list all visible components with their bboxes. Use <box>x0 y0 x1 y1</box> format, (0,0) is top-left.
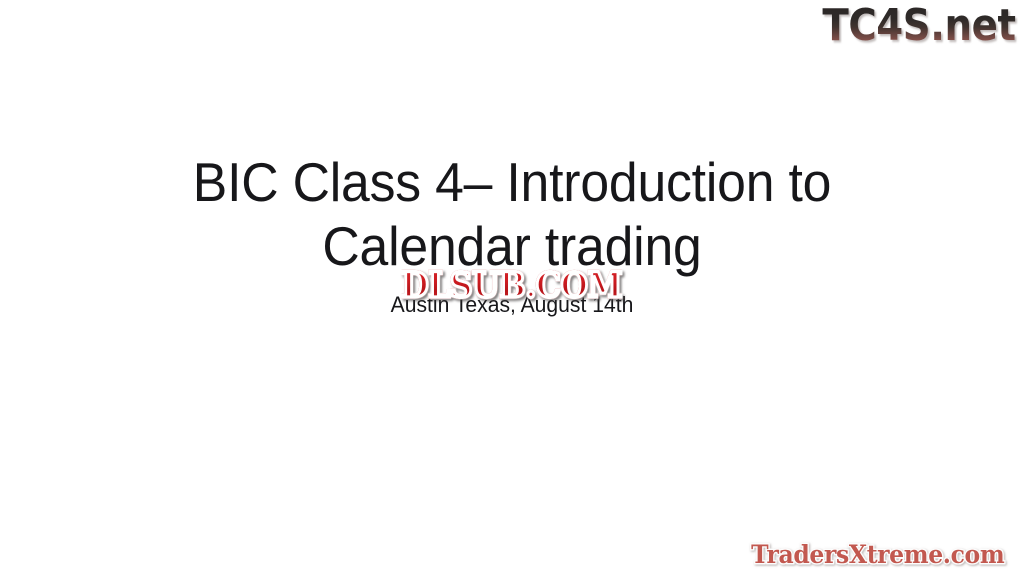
presentation-slide: TC4S.net BIC Class 4– Introduction to Ca… <box>0 0 1024 576</box>
tc4s-site-logo: TC4S.net <box>823 2 1016 50</box>
title-block: BIC Class 4– Introduction to Calendar tr… <box>0 150 1024 318</box>
page-title-line-1: BIC Class 4– Introduction to <box>31 150 994 214</box>
page-title-line-2: Calendar trading <box>31 214 994 278</box>
page-title: BIC Class 4– Introduction to Calendar tr… <box>31 150 994 278</box>
bottom-right-watermark: TradersXtreme.com <box>743 540 1012 570</box>
page-subtitle: Austin Texas, August 14th <box>20 292 1003 318</box>
bottom-right-watermark-label: TradersXtreme.com <box>751 541 1004 569</box>
